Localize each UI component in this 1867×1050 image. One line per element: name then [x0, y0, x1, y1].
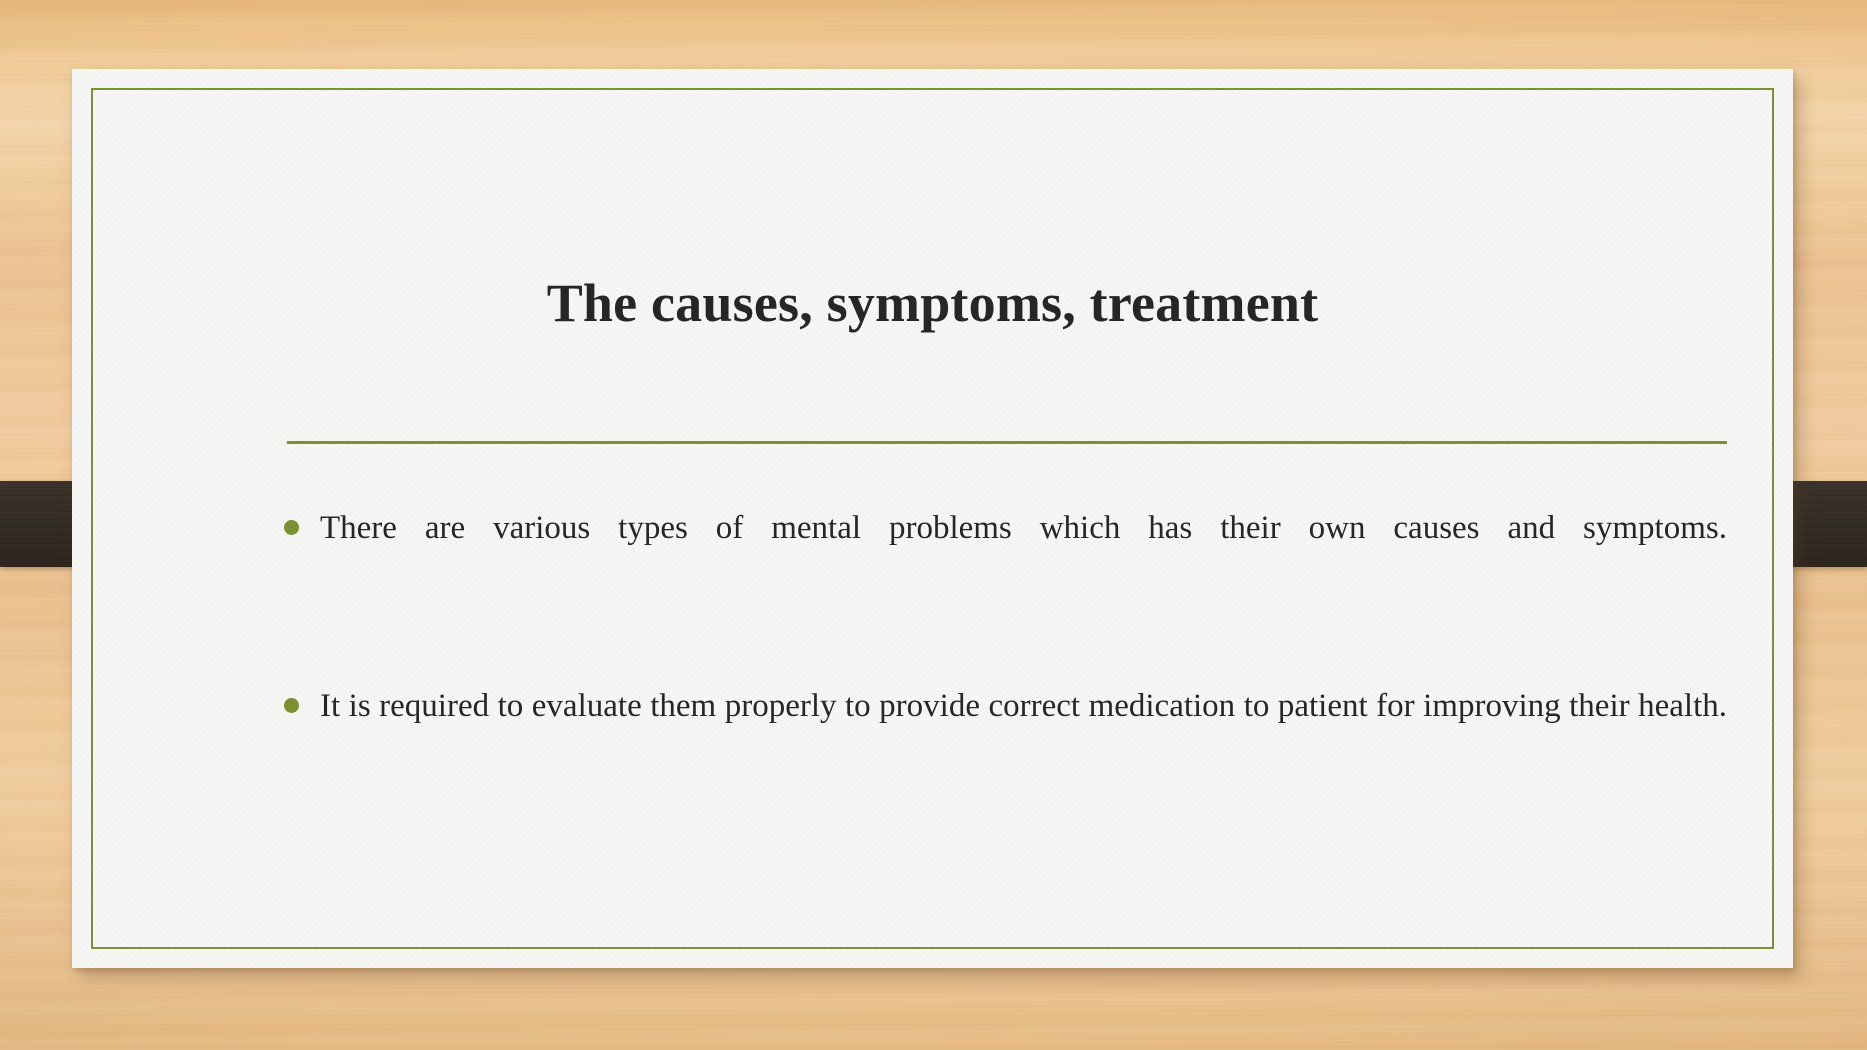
list-item: There are various types of mental proble… — [272, 489, 1727, 645]
slide-card: The causes, symptoms, treatment There ar… — [72, 69, 1793, 968]
page-title: The causes, symptoms, treatment — [72, 275, 1793, 332]
bullet-dot-icon — [284, 698, 299, 713]
list-item: It is required to evaluate them properly… — [272, 667, 1727, 823]
bullet-dot-icon — [284, 520, 299, 535]
slide-canvas: The causes, symptoms, treatment There ar… — [0, 0, 1867, 1050]
title-divider — [287, 441, 1727, 444]
list-item-text: There are various types of mental proble… — [320, 489, 1727, 645]
bullet-list: There are various types of mental proble… — [272, 489, 1727, 823]
slide-content: The causes, symptoms, treatment There ar… — [72, 69, 1793, 968]
list-item-text: It is required to evaluate them properly… — [320, 667, 1727, 823]
